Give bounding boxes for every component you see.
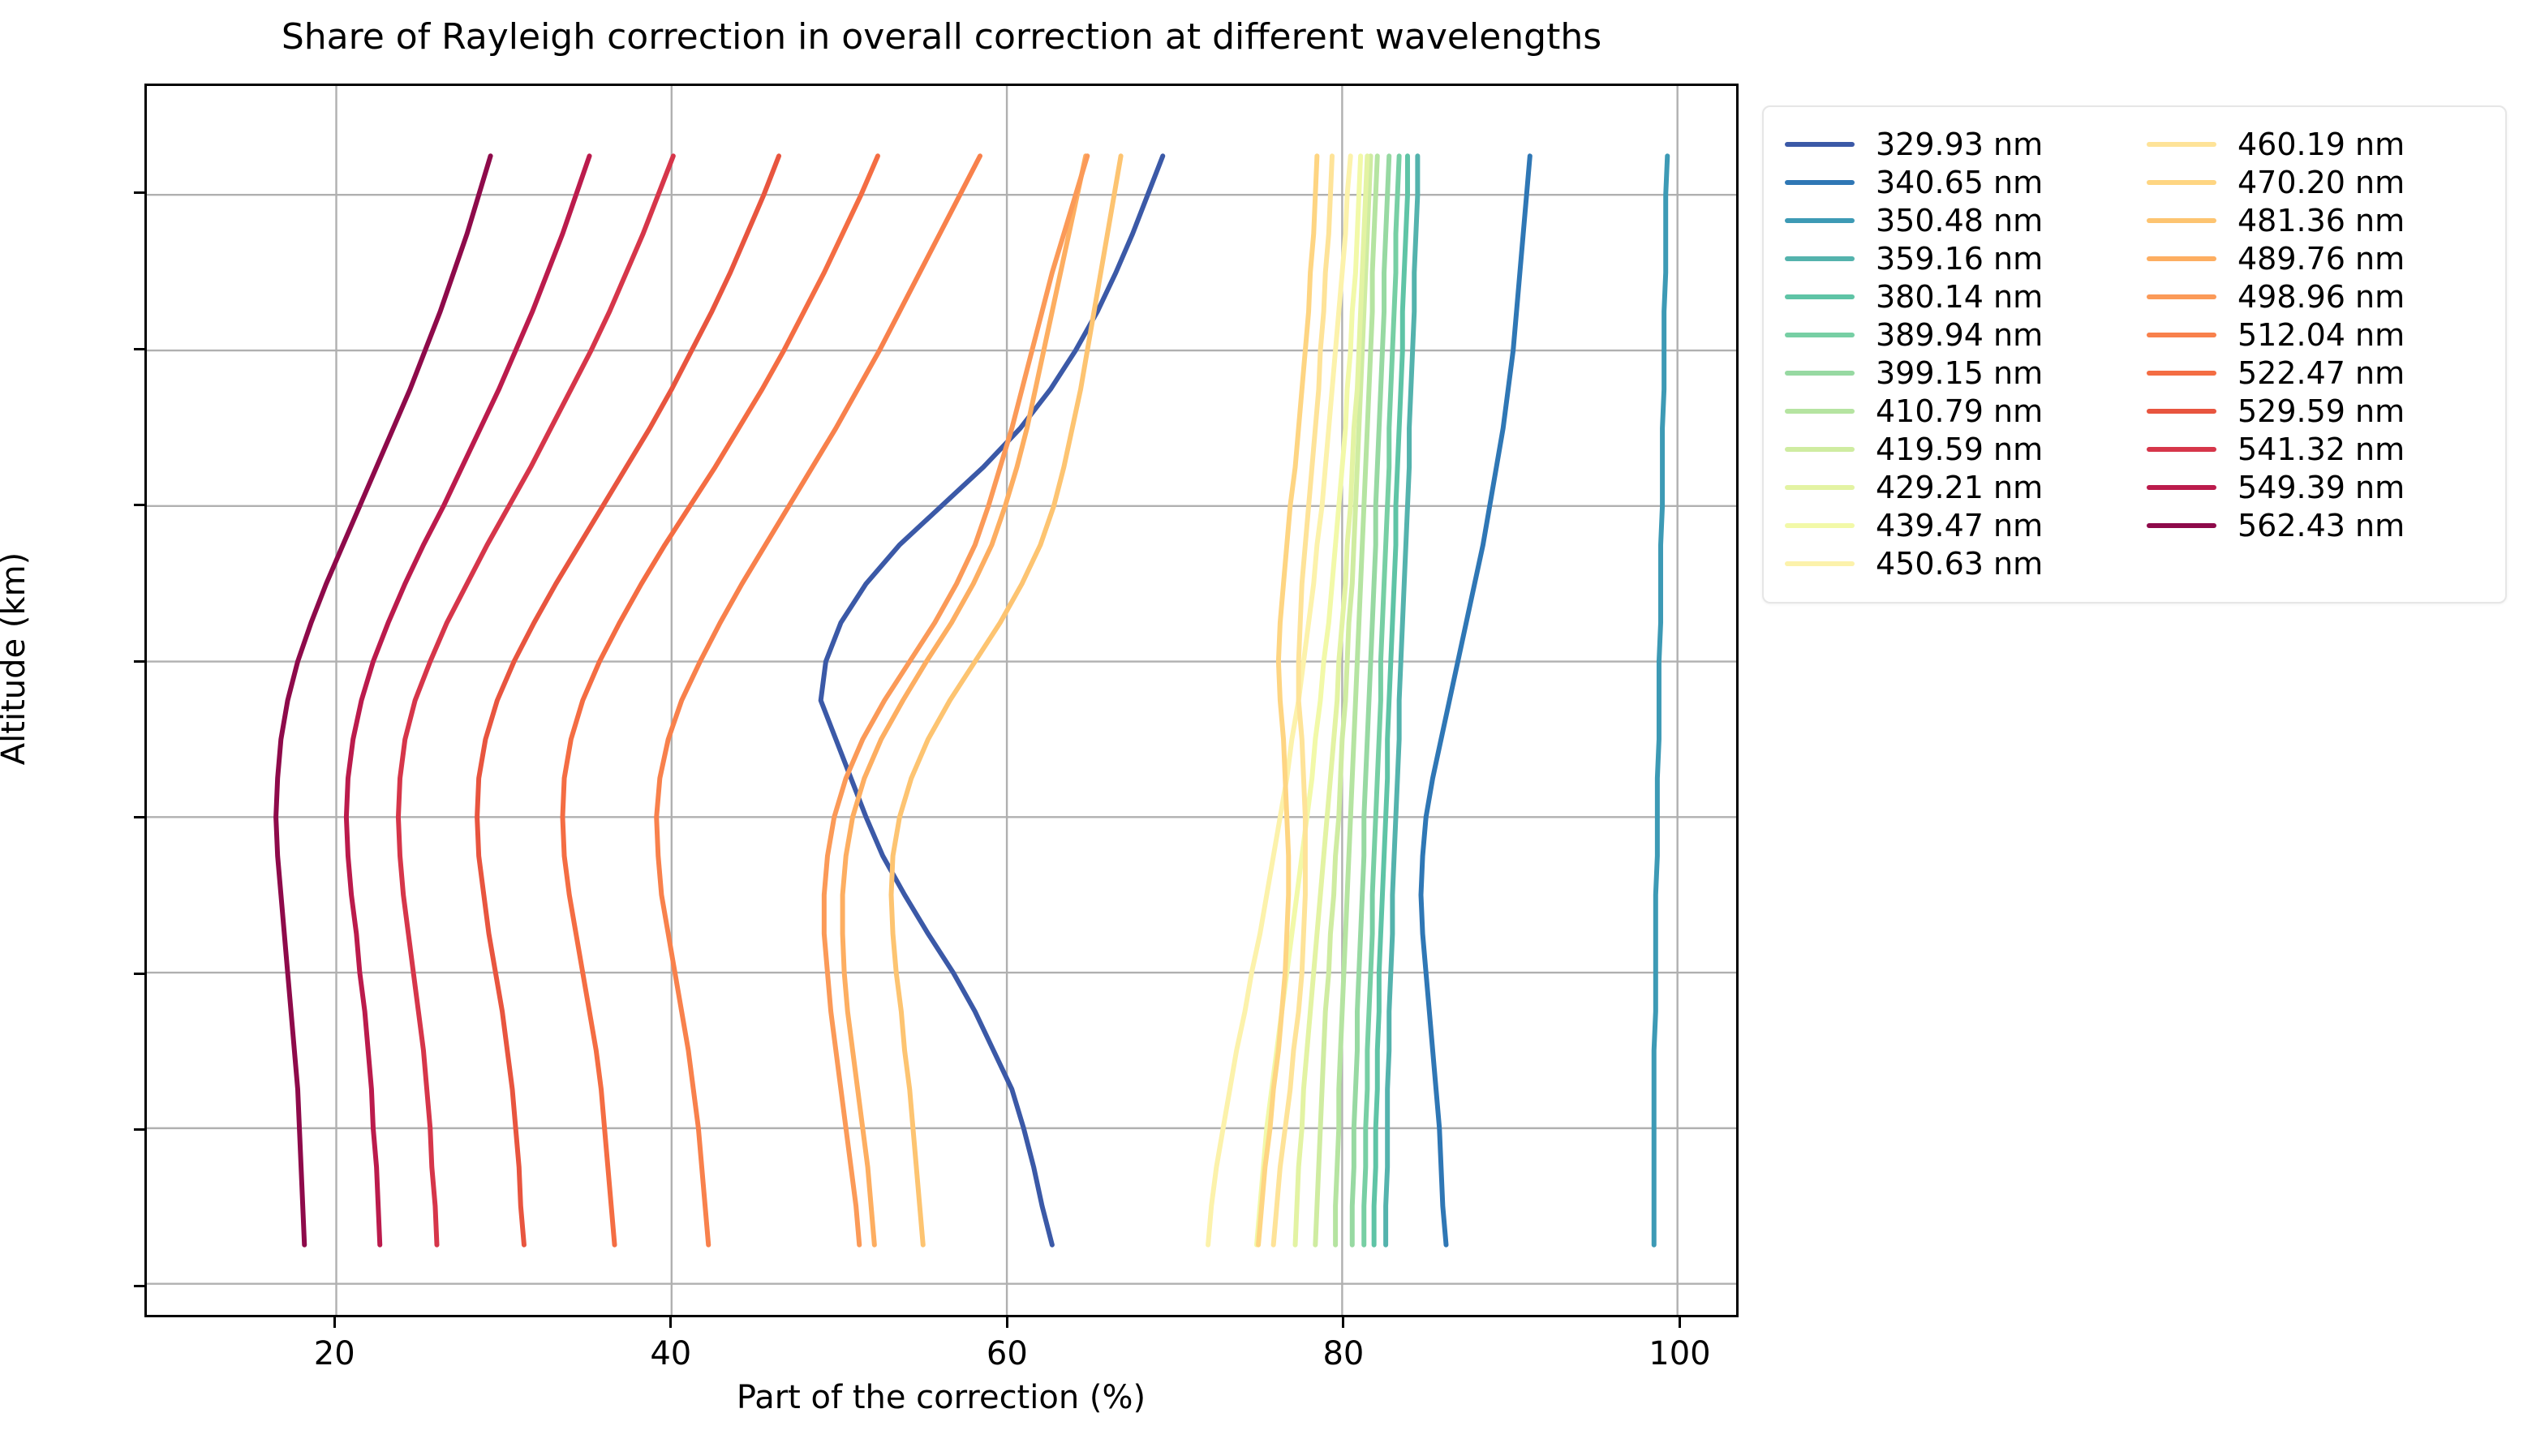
legend-item[interactable]: 450.63 nm [1785, 544, 2147, 582]
legend-item[interactable]: 439.47 nm [1785, 506, 2147, 544]
legend-color-swatch [2147, 371, 2216, 376]
x-tick-mark [1342, 1317, 1344, 1328]
legend-item-label: 380.14 nm [1876, 279, 2043, 315]
legend-item[interactable]: 410.79 nm [1785, 392, 2147, 430]
plot-area [144, 84, 1739, 1317]
legend-item-label: 399.15 nm [1876, 355, 2043, 391]
legend-item[interactable]: 380.14 nm [1785, 277, 2147, 316]
legend-color-swatch [1785, 371, 1855, 376]
legend-item[interactable]: 340.65 nm [1785, 163, 2147, 201]
legend-item-label: 498.96 nm [2238, 279, 2405, 315]
legend-item-label: 470.20 nm [2238, 165, 2405, 200]
y-axis-label: Altitude (km) [0, 552, 32, 765]
x-axis-label: Part of the correction (%) [737, 1379, 1146, 1416]
legend-column-1: 329.93 nm 340.65 nm 350.48 nm 359.16 nm … [1785, 125, 2147, 582]
legend-item-label: 359.16 nm [1876, 241, 2043, 277]
legend-color-swatch [1785, 333, 1855, 337]
legend-item-label: 549.39 nm [2238, 470, 2405, 505]
y-tick-mark [134, 1128, 144, 1131]
legend-item-label: 410.79 nm [1876, 393, 2043, 429]
series-line [1258, 156, 1317, 1244]
legend-color-swatch [2147, 294, 2216, 299]
x-tick-mark [1679, 1317, 1681, 1328]
legend-color-swatch [1785, 409, 1855, 414]
legend-item-label: 429.21 nm [1876, 470, 2043, 505]
page-title: Share of Rayleigh correction in overall … [144, 16, 1739, 58]
y-tick-mark [134, 816, 144, 818]
legend-color-swatch [1785, 447, 1855, 452]
legend-color-swatch [1785, 180, 1855, 185]
plot-canvas [147, 86, 1736, 1315]
legend-item[interactable]: 541.32 nm [2147, 430, 2405, 468]
legend-item-label: 481.36 nm [2238, 203, 2405, 238]
series-line [1654, 156, 1668, 1244]
legend-item-label: 419.59 nm [1876, 432, 2043, 467]
legend-item-label: 439.47 nm [1876, 508, 2043, 543]
x-tick-label: 40 [650, 1335, 691, 1372]
legend-color-swatch [1785, 294, 1855, 299]
legend-item-label: 489.76 nm [2238, 241, 2405, 277]
legend-item[interactable]: 489.76 nm [2147, 239, 2405, 277]
x-tick-mark [333, 1317, 336, 1328]
legend-color-swatch [1785, 523, 1855, 528]
y-tick-mark [134, 504, 144, 506]
legend-color-swatch [2147, 142, 2216, 147]
y-tick-mark [134, 1285, 144, 1287]
series-line [562, 156, 877, 1244]
x-tick-mark [1006, 1317, 1008, 1328]
legend-color-swatch [2147, 523, 2216, 528]
legend-item-label: 460.19 nm [2238, 127, 2405, 162]
legend-color-swatch [1785, 142, 1855, 147]
legend-item[interactable]: 529.59 nm [2147, 392, 2405, 430]
x-tick-label: 60 [987, 1335, 1028, 1372]
matplotlib-figure: Share of Rayleigh correction in overall … [0, 0, 2532, 1456]
legend-item[interactable]: 522.47 nm [2147, 354, 2405, 392]
legend-item[interactable]: 549.39 nm [2147, 468, 2405, 506]
legend-color-swatch [2147, 256, 2216, 261]
legend-item[interactable]: 470.20 nm [2147, 163, 2405, 201]
legend-item[interactable]: 460.19 nm [2147, 125, 2405, 163]
legend-item-label: 389.94 nm [1876, 317, 2043, 353]
legend-box[interactable]: 329.93 nm 340.65 nm 350.48 nm 359.16 nm … [1762, 105, 2507, 603]
y-tick-mark [134, 348, 144, 350]
series-line [346, 156, 590, 1244]
legend-item-label: 529.59 nm [2238, 393, 2405, 429]
legend-item-label: 329.93 nm [1876, 127, 2043, 162]
legend-item-label: 562.43 nm [2238, 508, 2405, 543]
legend-color-swatch [2147, 180, 2216, 185]
y-tick-mark [134, 660, 144, 663]
legend-item[interactable]: 512.04 nm [2147, 316, 2405, 354]
x-tick-mark [669, 1317, 672, 1328]
legend-item-label: 512.04 nm [2238, 317, 2405, 353]
legend-item-label: 522.47 nm [2238, 355, 2405, 391]
x-tick-label: 80 [1322, 1335, 1364, 1372]
x-tick-label: 20 [314, 1335, 355, 1372]
figure-root: Share of Rayleigh correction in overall … [0, 0, 2532, 1456]
legend-color-swatch [2147, 333, 2216, 337]
legend-item[interactable]: 350.48 nm [1785, 201, 2147, 239]
series-line [477, 156, 779, 1244]
legend-color-swatch [2147, 218, 2216, 223]
legend-color-swatch [1785, 485, 1855, 490]
legend-item[interactable]: 419.59 nm [1785, 430, 2147, 468]
series-line [824, 156, 1087, 1244]
series-line [843, 156, 1086, 1244]
legend-color-swatch [1785, 218, 1855, 223]
legend-item[interactable]: 429.21 nm [1785, 468, 2147, 506]
legend-item-label: 340.65 nm [1876, 165, 2043, 200]
legend-item[interactable]: 389.94 nm [1785, 316, 2147, 354]
legend-item-label: 450.63 nm [1876, 546, 2043, 582]
legend-color-swatch [1785, 256, 1855, 261]
legend-item[interactable]: 481.36 nm [2147, 201, 2405, 239]
legend-column-2: 460.19 nm 470.20 nm 481.36 nm 489.76 nm … [2147, 125, 2405, 582]
legend-color-swatch [2147, 447, 2216, 452]
legend-color-swatch [2147, 409, 2216, 414]
legend-color-swatch [1785, 561, 1855, 566]
x-tick-label: 100 [1649, 1335, 1710, 1372]
legend-item[interactable]: 399.15 nm [1785, 354, 2147, 392]
legend-item[interactable]: 498.96 nm [2147, 277, 2405, 316]
series-line [821, 156, 1163, 1244]
series-line [656, 156, 980, 1244]
legend-item-label: 350.48 nm [1876, 203, 2043, 238]
series-lines [147, 86, 1736, 1315]
series-line [1421, 156, 1530, 1244]
y-tick-mark [134, 191, 144, 194]
legend-item[interactable]: 562.43 nm [2147, 506, 2405, 544]
legend-color-swatch [2147, 485, 2216, 490]
legend-item-label: 541.32 nm [2238, 432, 2405, 467]
series-line [276, 156, 491, 1244]
legend-item[interactable]: 329.93 nm [1785, 125, 2147, 163]
legend-item[interactable]: 359.16 nm [1785, 239, 2147, 277]
y-tick-mark [134, 973, 144, 975]
